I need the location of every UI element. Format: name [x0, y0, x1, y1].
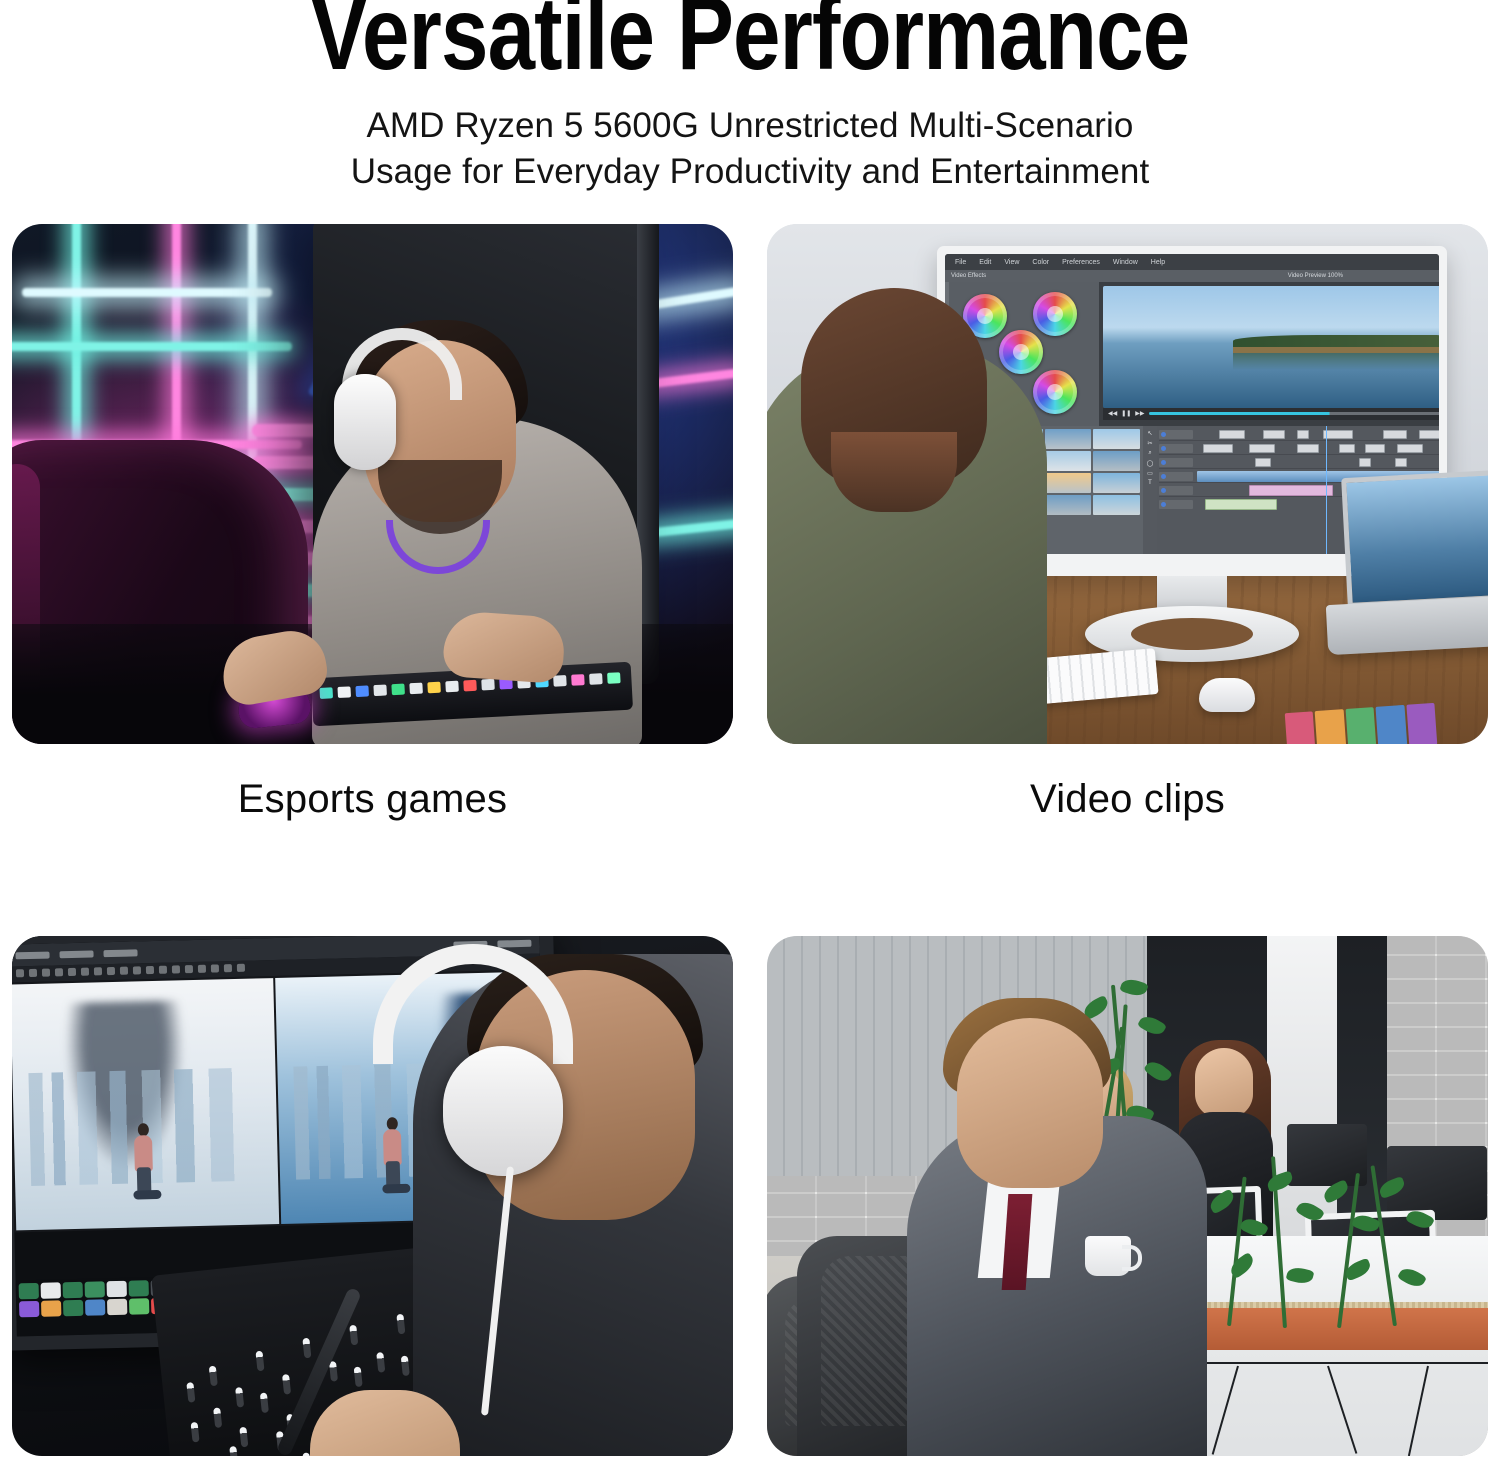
page-header: Versatile Performance AMD Ryzen 5 5600G … [0, 0, 1500, 194]
canvas-frame-left [12, 978, 279, 1230]
color-wheel-highlight[interactable] [1033, 370, 1077, 414]
color-wheel-gamma[interactable] [999, 330, 1043, 374]
panel-title-bar: Video Effects Video Preview 100% [945, 270, 1439, 282]
scenario-card-corporate-office: Corporate office [767, 936, 1488, 1460]
photo-esports-games [12, 224, 733, 744]
office-worker-head [957, 1018, 1103, 1188]
playback-progress-bar[interactable] [1149, 412, 1439, 415]
laptop [1319, 469, 1488, 669]
menu-item-color[interactable]: Color [1032, 259, 1049, 266]
photo-video-clips: File Edit View Color Preferences Window … [767, 224, 1488, 744]
desk-plant-zz [1187, 1150, 1487, 1350]
menu-item-window[interactable]: Window [1113, 259, 1138, 266]
figure-on-hoverboard-right [379, 1114, 407, 1187]
laptop-screen [1341, 469, 1488, 608]
forward-icon[interactable]: ▶▶ [1135, 410, 1144, 417]
figure-on-hoverboard-left [129, 1121, 157, 1194]
page-title: Versatile Performance [135, 0, 1365, 77]
video-preview-pane: ◀◀ ❚❚ ▶▶ [1099, 282, 1439, 426]
scenario-card-esports-games: Esports games [12, 224, 733, 830]
menu-item-help[interactable]: Help [1151, 259, 1165, 266]
menu-item-file[interactable]: File [955, 259, 966, 266]
menu-item-preferences[interactable]: Preferences [1062, 259, 1100, 266]
razor-tool-icon[interactable]: ✂ [1147, 440, 1152, 447]
panel-title-video-preview: Video Preview 100% [1288, 273, 1343, 279]
page-subtitle: AMD Ryzen 5 5600G Unrestricted Multi-Sce… [0, 103, 1500, 194]
promo-page: Versatile Performance AMD Ryzen 5 5600G … [0, 0, 1500, 1452]
headphone-earcup [334, 374, 396, 470]
page-subtitle-line-2: Usage for Everyday Productivity and Ente… [0, 149, 1500, 195]
pointer-tool-icon[interactable]: ↖ [1147, 430, 1152, 437]
rewind-icon[interactable]: ◀◀ [1108, 410, 1117, 417]
scenario-card-graphic-design: Graphic design [12, 936, 733, 1460]
panel-title-video-effects: Video Effects [951, 273, 986, 279]
timeline-toolbar[interactable]: ↖ ✂ ⌕ ◯ ▭ T [1143, 426, 1157, 554]
scenario-card-video-clips: File Edit View Color Preferences Window … [767, 224, 1488, 830]
menu-item-edit[interactable]: Edit [979, 259, 991, 266]
app-menu-bar: File Edit View Color Preferences Window … [945, 254, 1439, 270]
scenario-grid: Esports games File Edit View Color Prefe… [12, 224, 1488, 1460]
photo-corporate-office [767, 936, 1488, 1456]
color-wheel-gain[interactable] [1033, 292, 1077, 336]
laptop-keyboard-base [1326, 594, 1488, 655]
headphone-earcup [443, 1046, 563, 1176]
caption-video-clips: Video clips [767, 768, 1488, 830]
pause-icon[interactable]: ❚❚ [1121, 410, 1131, 417]
caption-esports-games: Esports games [12, 768, 733, 830]
menu-item-view[interactable]: View [1004, 259, 1019, 266]
ellipse-tool-icon[interactable]: ◯ [1147, 460, 1154, 467]
playback-controls[interactable]: ◀◀ ❚❚ ▶▶ [1103, 408, 1439, 420]
photo-graphic-design [12, 936, 733, 1456]
page-subtitle-line-1: AMD Ryzen 5 5600G Unrestricted Multi-Sce… [0, 103, 1500, 149]
text-tool-icon[interactable]: T [1148, 480, 1152, 486]
preview-frame-lake [1103, 286, 1439, 408]
white-mug [1085, 1236, 1131, 1276]
zoom-tool-icon[interactable]: ⌕ [1148, 450, 1151, 457]
gamer-right-hand [442, 610, 566, 684]
rect-tool-icon[interactable]: ▭ [1147, 470, 1153, 477]
white-mouse [1199, 678, 1255, 712]
